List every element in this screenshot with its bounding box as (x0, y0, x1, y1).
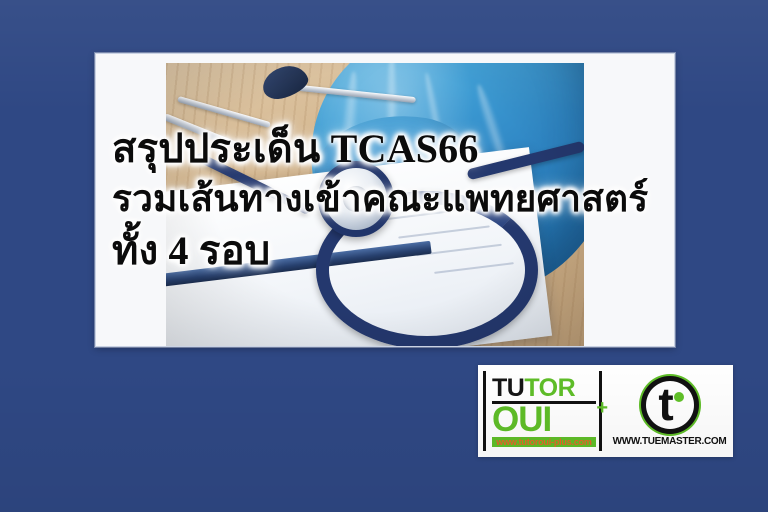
photo-card (95, 53, 675, 347)
medical-photo (166, 63, 584, 346)
tutoroui-wordmark-top: TUTOR (492, 376, 596, 400)
logo-strip: TUTOR OUI+ www.tutoroui-plus.com t WWW.T… (478, 365, 733, 457)
tutoroui-text-oui: OUI (492, 400, 551, 439)
tuemaster-logo[interactable]: t WWW.TUEMASTER.COM (606, 365, 733, 457)
chest-piece-diaphragm (343, 186, 369, 212)
tuemaster-mark-icon: t (641, 376, 699, 434)
tuemaster-url[interactable]: WWW.TUEMASTER.COM (613, 436, 727, 447)
stethoscope-chest-piece (318, 161, 394, 237)
tutoroui-text-tu: TU (492, 374, 524, 402)
tutoroui-wordmark-bottom: OUI+ (492, 404, 596, 437)
tutoroui-text-tor: TOR (524, 374, 575, 402)
tuemaster-letter-t: t (658, 381, 673, 427)
poster-canvas: สรุปประเด็น TCAS66 รวมเส้นทางเข้าคณะแพทย… (0, 0, 768, 512)
tutoroui-logo[interactable]: TUTOR OUI+ www.tutoroui-plus.com (478, 365, 606, 457)
tutoroui-url[interactable]: www.tutoroui-plus.com (492, 437, 596, 447)
logo-left-rule (483, 371, 486, 451)
tuemaster-green-dot-icon (674, 392, 684, 402)
